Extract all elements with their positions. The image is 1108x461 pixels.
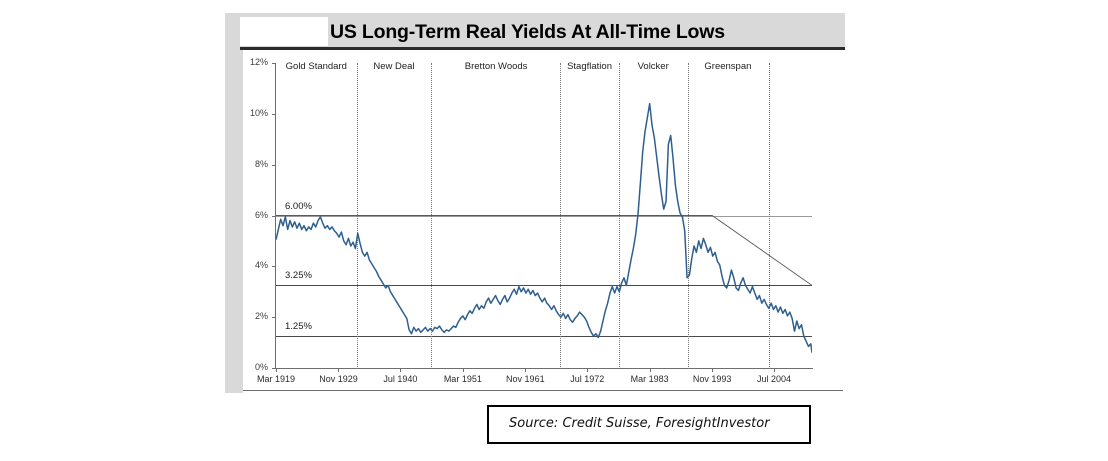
x-tick-label: Nov 1929	[319, 374, 358, 384]
source-box: Source: Credit Suisse, ForesightInvestor	[487, 405, 811, 444]
figure-root: US Long-Term Real Yields At All-Time Low…	[0, 0, 1108, 461]
x-tick-mark	[400, 368, 401, 372]
x-tick-mark	[276, 368, 277, 372]
y-tick-label: 4%	[242, 260, 268, 270]
x-tick-mark	[338, 368, 339, 372]
x-tick-label: Nov 1993	[693, 374, 732, 384]
x-tick-mark	[774, 368, 775, 372]
x-tick-label: Mar 1919	[257, 374, 295, 384]
x-tick-label: Jul 1940	[383, 374, 417, 384]
y-tick-label: 6%	[242, 210, 268, 220]
y-tick-label: 0%	[242, 362, 268, 372]
x-tick-label: Jul 2004	[757, 374, 791, 384]
x-tick-label: Mar 1951	[444, 374, 482, 384]
page-title: US Long-Term Real Yields At All-Time Low…	[330, 18, 830, 46]
x-tick-mark	[463, 368, 464, 372]
source-text: Source: Credit Suisse, ForesightInvestor	[509, 416, 770, 431]
y-tick-label: 12%	[242, 57, 268, 67]
title-underline	[240, 47, 845, 50]
x-tick-label: Mar 1983	[631, 374, 669, 384]
bottom-rule	[243, 390, 843, 391]
x-tick-label: Jul 1972	[570, 374, 604, 384]
yield-series-line	[276, 63, 812, 368]
x-tick-mark	[712, 368, 713, 372]
x-tick-mark	[525, 368, 526, 372]
y-tick-label: 10%	[242, 108, 268, 118]
y-tick-label: 8%	[242, 159, 268, 169]
y-tick-label: 2%	[242, 311, 268, 321]
x-tick-mark	[587, 368, 588, 372]
x-tick-label: Nov 1961	[506, 374, 545, 384]
x-tick-mark	[650, 368, 651, 372]
title-placeholder-box	[240, 17, 328, 46]
